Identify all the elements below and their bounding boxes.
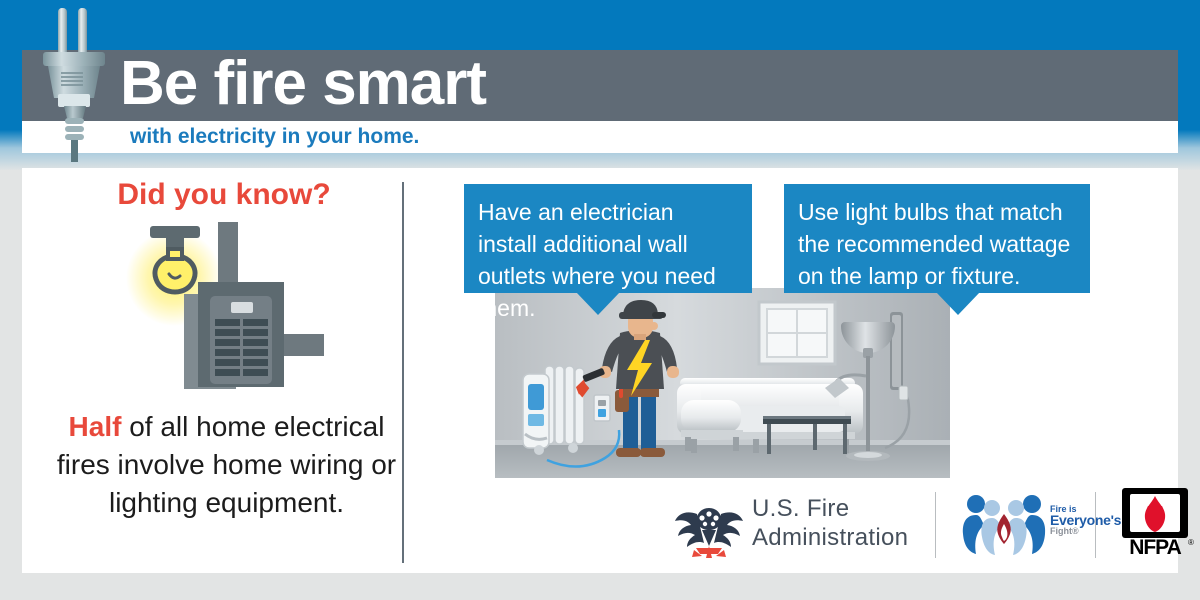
logo-divider-1 xyxy=(935,492,936,558)
callout-text: Use light bulbs that match the recommend… xyxy=(798,199,1070,289)
fire-is-everyones-fight-people-icon xyxy=(962,492,1046,558)
electrical-panel-and-hanging-lightbulb-icon xyxy=(122,216,332,396)
content-card: Did you know? xyxy=(22,168,1178,573)
page-title: Be fire smart xyxy=(120,48,486,120)
nfpa-registered-mark: ® xyxy=(1188,538,1194,547)
statistic-highlight: Half xyxy=(69,411,122,442)
feef-wordmark: Fire is Everyone's Fight® xyxy=(1050,504,1121,537)
nfpa-logo: NFPA ® xyxy=(1122,488,1196,562)
usfa-line1: U.S. Fire xyxy=(752,494,908,523)
electrical-plug-icon xyxy=(28,2,138,162)
logo-bar: U.S. Fire Administration Fire is Everyon… xyxy=(652,486,1182,566)
feef-line2: Everyone's xyxy=(1050,515,1121,526)
nfpa-flame-icon xyxy=(1140,496,1170,532)
statistic-text: Half of all home electrical fires involv… xyxy=(44,408,409,522)
usfa-eagle-icon xyxy=(672,488,746,562)
usfa-line2: Administration xyxy=(752,523,908,552)
callout-tail-icon xyxy=(576,292,620,315)
usfa-wordmark: U.S. Fire Administration xyxy=(752,494,908,552)
living-room-illustration xyxy=(495,288,950,478)
did-you-know-heading: Did you know? xyxy=(44,176,404,214)
page-subtitle: with electricity in your home. xyxy=(130,122,419,152)
callout-box-outlets[interactable]: Have an electrician install additional w… xyxy=(464,184,752,293)
column-divider xyxy=(402,182,404,563)
infographic-poster: Be fire smart with electricity in your h… xyxy=(0,0,1200,600)
callout-tail-icon xyxy=(936,292,980,315)
nfpa-wordmark: NFPA xyxy=(1122,536,1188,560)
callout-box-wattage[interactable]: Use light bulbs that match the recommend… xyxy=(784,184,1090,293)
logo-divider-2 xyxy=(1095,492,1096,558)
